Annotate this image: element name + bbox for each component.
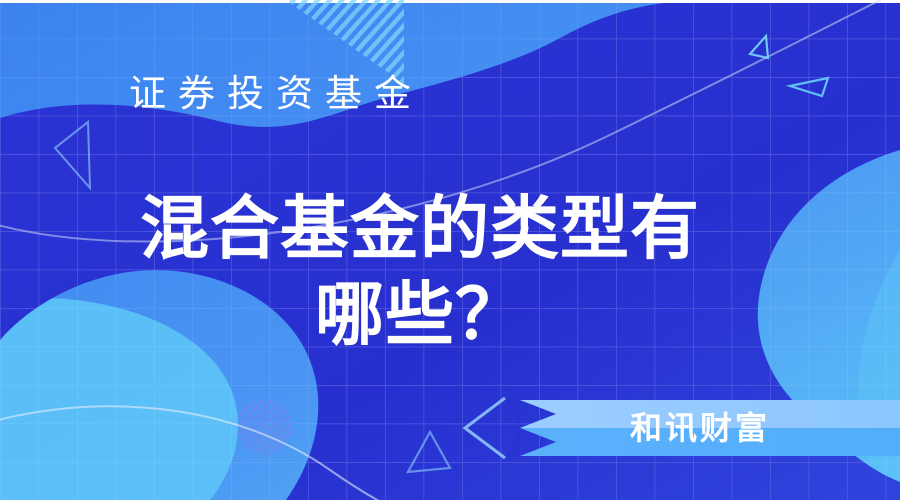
top-white-strip	[0, 0, 900, 3]
background-artwork	[0, 0, 900, 500]
banner-canvas: 证券投资基金 混合基金的类型有 哪些？ 和讯财富	[0, 0, 900, 500]
badge-banner	[520, 400, 900, 456]
